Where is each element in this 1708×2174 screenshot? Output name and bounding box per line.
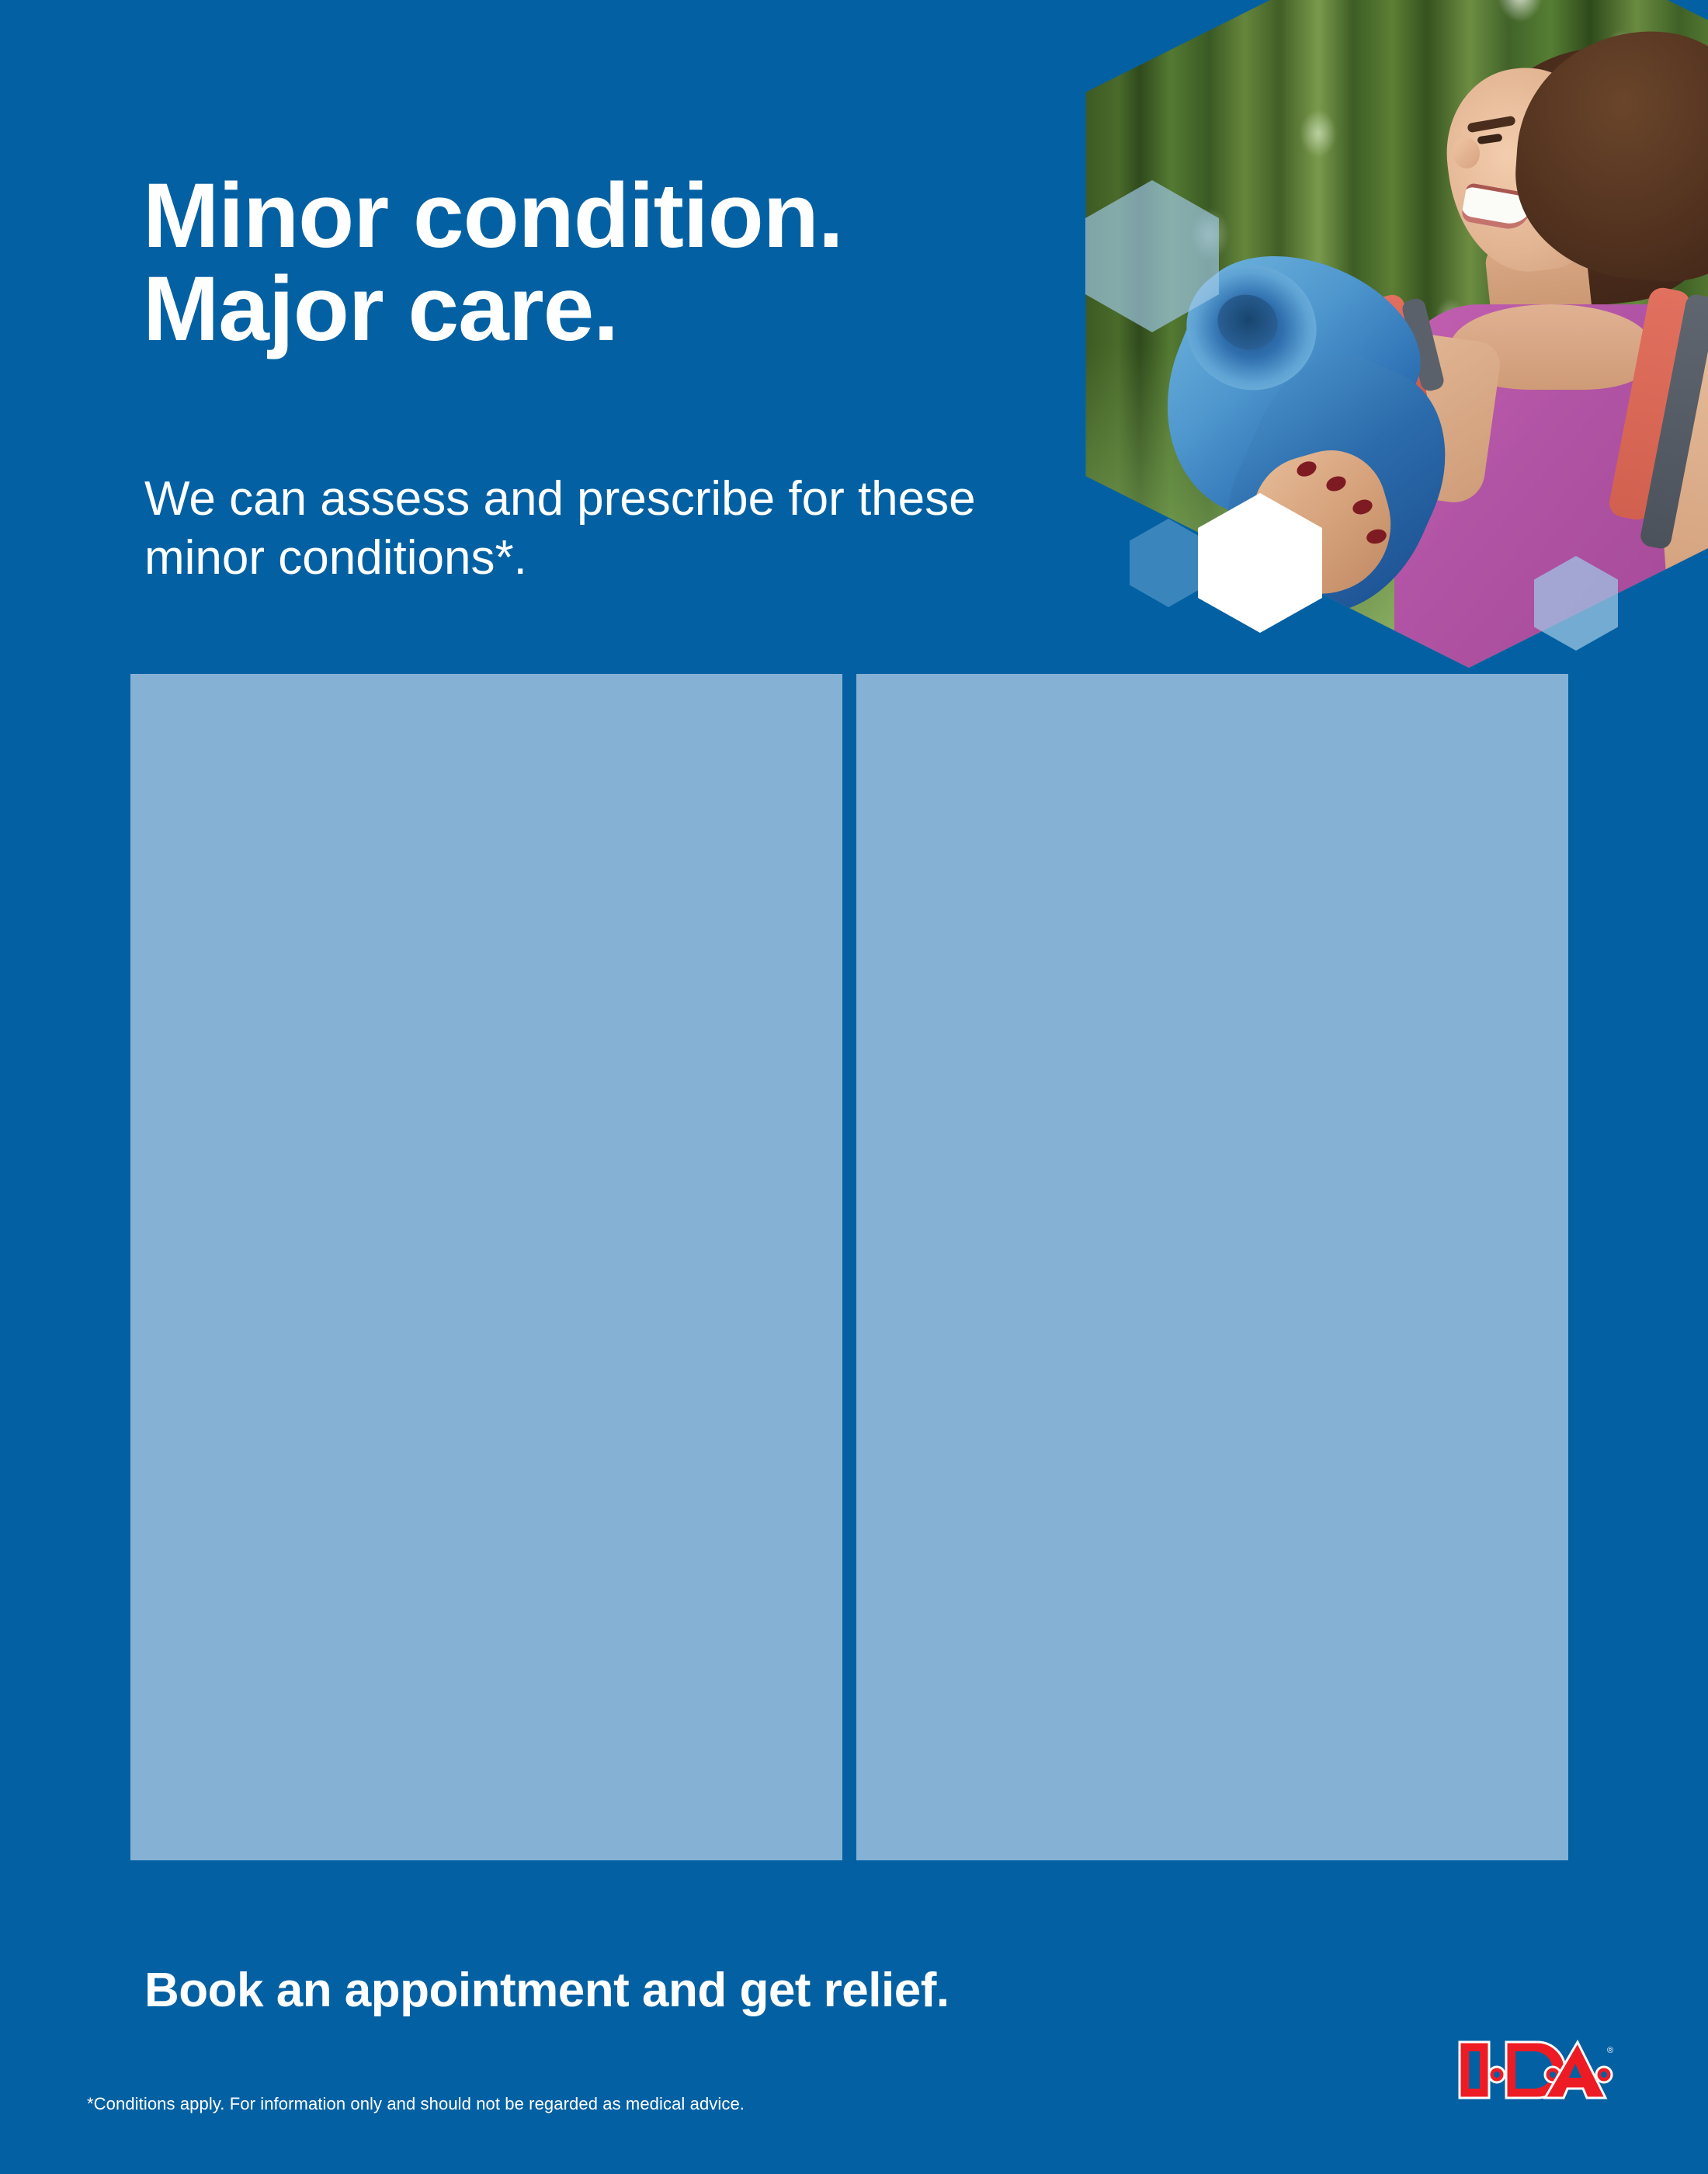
ida-logo: ® xyxy=(1453,2037,1616,2103)
page-subtitle: We can assess and prescribe for these mi… xyxy=(144,470,1061,587)
right-content-panel[interactable] xyxy=(856,674,1568,1860)
left-content-panel[interactable] xyxy=(130,674,842,1860)
cta-text: Book an appointment and get relief. xyxy=(144,1963,949,2018)
ida-logo-glyphs xyxy=(1460,2042,1612,2098)
registered-mark: ® xyxy=(1607,2046,1613,2055)
hexagon-decor-mid-left xyxy=(1130,519,1207,607)
content-panels xyxy=(130,674,1568,1860)
nose xyxy=(1453,137,1480,168)
poster-root: Minor condition. Major care. We can asse… xyxy=(0,0,1708,2174)
legal-disclaimer: *Conditions apply. For information only … xyxy=(87,2094,745,2114)
page-title: Minor condition. Major care. xyxy=(143,169,1059,356)
